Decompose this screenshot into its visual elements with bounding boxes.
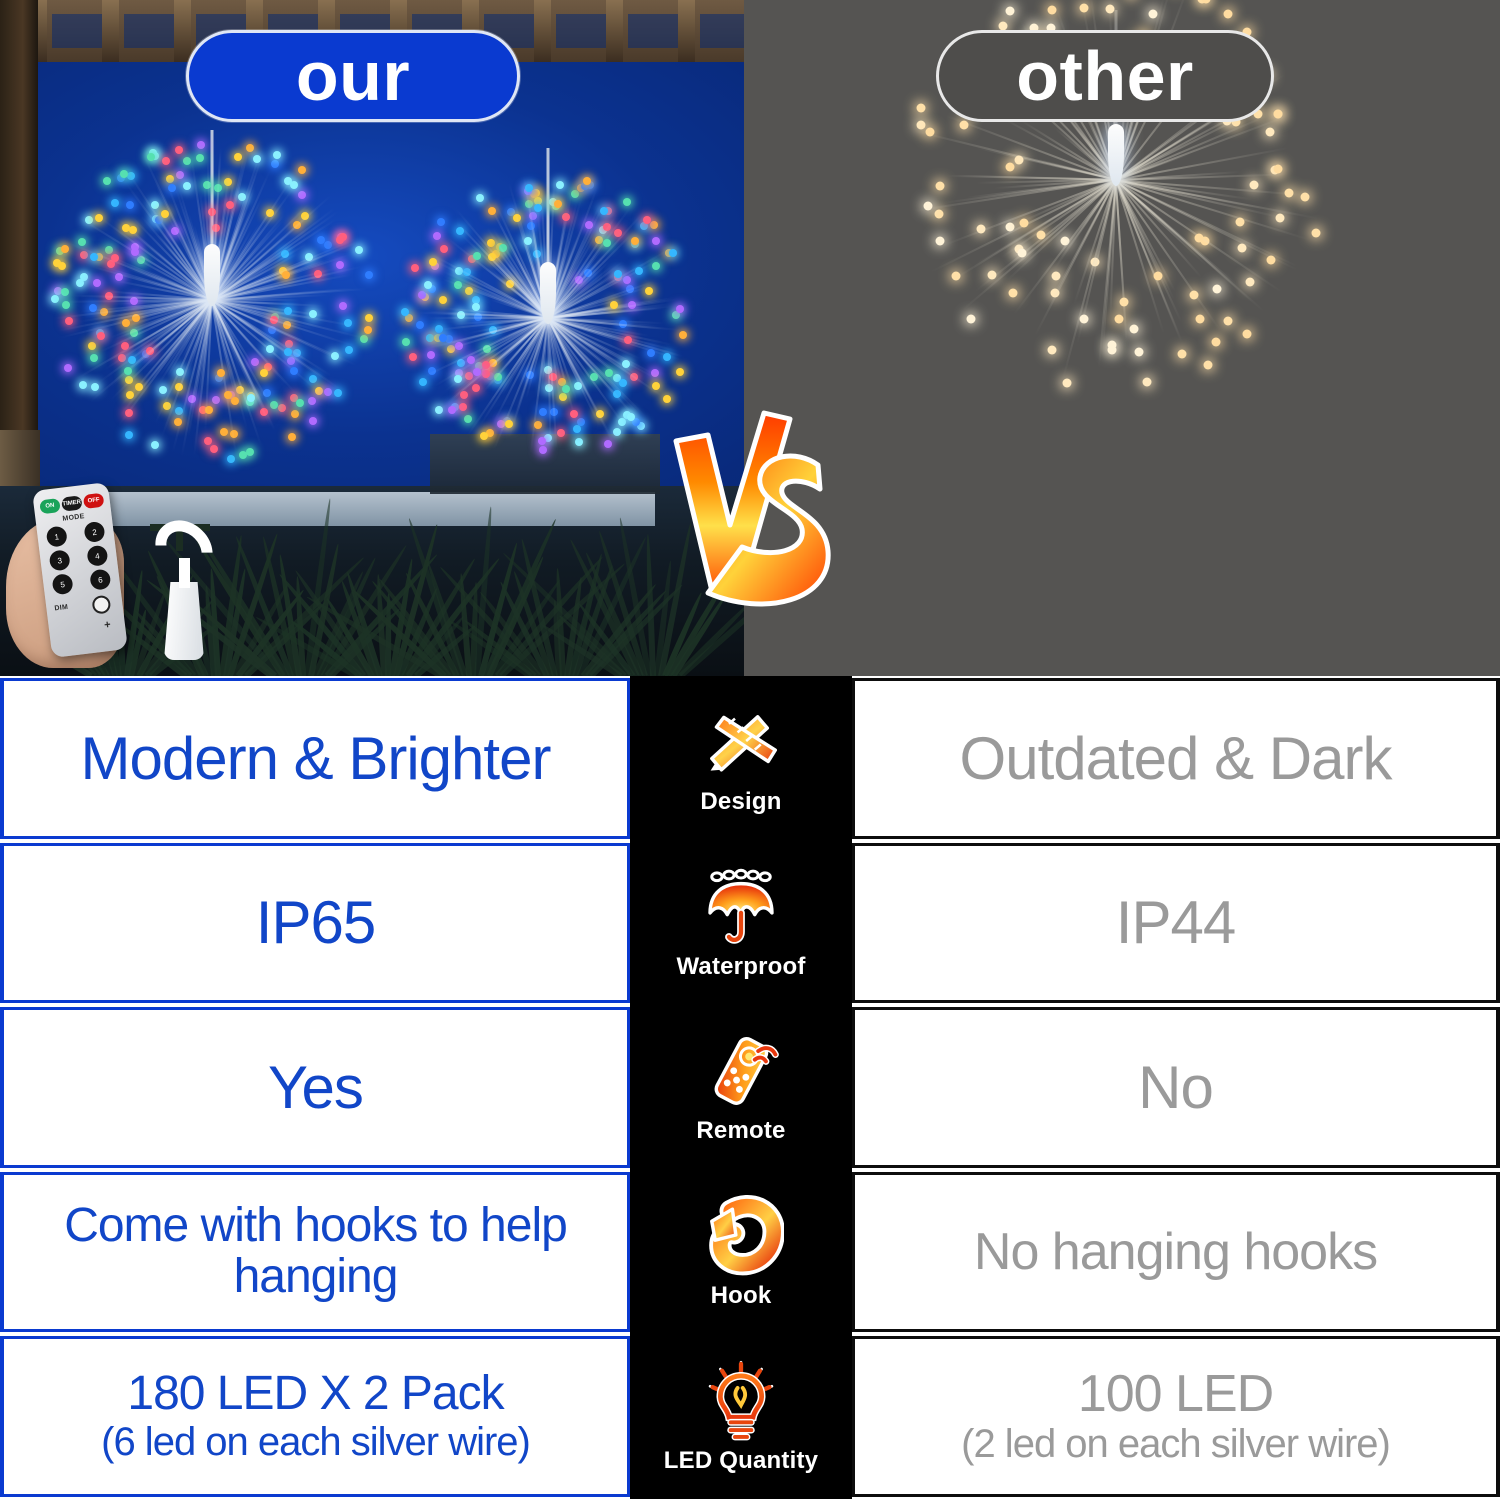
led-dot [650, 221, 658, 229]
table-row: Yes [0, 1005, 1500, 1170]
feature-icon-hook: Hook [630, 1170, 852, 1335]
led-dot [260, 369, 268, 377]
other-value: No [1138, 1057, 1213, 1118]
led-dot [1246, 277, 1255, 286]
feature-icon-design: Design [630, 676, 852, 841]
vs-graphic [668, 405, 836, 645]
led-dot [1236, 217, 1245, 226]
light-bulb-icon [698, 1357, 784, 1443]
led-dot [324, 388, 332, 396]
led-dot [61, 245, 69, 253]
led-dot [424, 281, 432, 289]
led-dot [90, 354, 98, 362]
led-dot [234, 153, 242, 161]
feature-label: Waterproof [676, 953, 805, 981]
remote-number-button: 5 [51, 573, 73, 595]
feature-icon-led-quantity: LED Quantity [630, 1334, 852, 1499]
table-row: Modern & Brighter [0, 676, 1500, 841]
led-dot [1036, 230, 1045, 239]
our-cell-remote: Yes [0, 1007, 630, 1168]
led-dot [1134, 348, 1143, 357]
led-dot [224, 391, 232, 399]
led-dot [998, 21, 1007, 30]
our-value: Yes [268, 1057, 363, 1118]
led-dot [1005, 162, 1014, 171]
led-dot [1014, 156, 1023, 165]
feature-label: Design [700, 788, 781, 816]
led-dot [85, 216, 93, 224]
led-dot [570, 410, 578, 418]
led-dot [1106, 5, 1115, 14]
led-dot [1285, 189, 1294, 198]
remote-number-button: 1 [46, 525, 68, 547]
led-dot [90, 253, 98, 261]
led-dot [111, 254, 119, 262]
led-dot [473, 252, 481, 260]
led-dot [418, 291, 426, 299]
table-row: Come with hooks to help hanging Hook No … [0, 1170, 1500, 1335]
led-dot [538, 437, 546, 445]
led-dot [426, 334, 434, 342]
led-dot [916, 120, 925, 129]
led-dot [1079, 4, 1088, 13]
led-dot [575, 438, 583, 446]
led-dot [1212, 285, 1221, 294]
led-dot [282, 271, 290, 279]
led-dot [298, 191, 306, 199]
led-dot [175, 407, 183, 415]
led-dot [174, 418, 182, 426]
feature-icon-remote: Remote [630, 1005, 852, 1170]
led-dot [1178, 350, 1187, 359]
led-dot [80, 251, 88, 259]
led-dot [437, 218, 445, 226]
pergola-gap [700, 14, 744, 48]
our-value: Come with hooks to help hanging [4, 1201, 627, 1303]
badge-other: other [936, 30, 1274, 122]
badge-other-label: other [1016, 36, 1194, 116]
led-dot [631, 237, 639, 245]
led-dot [1238, 243, 1247, 252]
led-dot [1274, 110, 1283, 119]
led-dot [105, 246, 113, 254]
led-dot [435, 406, 443, 414]
led-dot [217, 369, 225, 377]
led-dot [204, 437, 212, 445]
remote-number-button: 6 [89, 568, 111, 590]
led-dot [427, 351, 435, 359]
led-dot [1223, 10, 1232, 19]
led-dot [196, 154, 204, 162]
led-dot [365, 314, 373, 322]
led-dot [1250, 181, 1259, 190]
led-dot [676, 305, 684, 313]
led-dot [652, 262, 660, 270]
hook-stem [179, 558, 190, 588]
feature-icon-waterproof: Waterproof [630, 841, 852, 1006]
led-dot [238, 193, 246, 201]
led-dot [161, 210, 169, 218]
led-dot [1211, 338, 1220, 347]
feature-label: LED Quantity [664, 1447, 818, 1475]
comparison-table: Modern & Brighter [0, 676, 1500, 1499]
led-dot [296, 399, 304, 407]
led-dot [1189, 290, 1198, 299]
led-dot [439, 296, 447, 304]
other-cell-remote: No [852, 1007, 1500, 1168]
feature-label: Hook [711, 1282, 772, 1310]
led-dot [416, 321, 424, 329]
led-dot [679, 331, 687, 339]
led-dot [290, 367, 298, 375]
led-dot [539, 408, 547, 416]
led-dot [93, 279, 101, 287]
led-dot [966, 315, 975, 324]
other-value-sub: (2 led on each silver wire) [961, 1422, 1390, 1467]
led-dot [652, 237, 660, 245]
pergola-beam [174, 0, 191, 62]
led-dot [284, 307, 292, 315]
led-dot [440, 245, 448, 253]
remote-button: ON [39, 498, 61, 514]
other-cell-waterproof: IP44 [852, 843, 1500, 1004]
led-dot [433, 232, 441, 240]
led-dot [401, 308, 409, 316]
hanging-hook-photo [152, 510, 214, 660]
led-dot [614, 229, 622, 237]
our-cell-led-quantity: 180 LED X 2 Pack (6 led on each silver w… [0, 1336, 630, 1497]
our-value: 180 LED X 2 Pack [101, 1369, 530, 1420]
led-dot [482, 361, 490, 369]
our-cell-waterproof: IP65 [0, 843, 630, 1004]
led-dot [459, 403, 467, 411]
led-dot [669, 249, 677, 257]
led-dot [556, 181, 564, 189]
led-dot [614, 270, 622, 278]
led-dot [176, 171, 184, 179]
remote-control-photo: ONTIMEROFFMODE123456DIM+ [6, 478, 146, 668]
remote-button: OFF [83, 493, 105, 509]
led-dot [239, 451, 247, 459]
led-dot [480, 432, 488, 440]
other-cell-design: Outdated & Dark [852, 678, 1500, 839]
remote-number-button: 2 [83, 521, 105, 543]
other-value: 100 LED [961, 1367, 1390, 1422]
pergola-gap [52, 14, 102, 48]
led-dot [163, 402, 171, 410]
led-dot [1265, 128, 1274, 137]
table-row: IP65 Waterproof [0, 841, 1500, 1006]
led-dot [64, 364, 72, 372]
led-dot [562, 213, 570, 221]
other-value: No hanging hooks [974, 1225, 1377, 1280]
led-dot [270, 401, 278, 409]
led-dot [1062, 378, 1071, 387]
led-dot [539, 446, 547, 454]
led-dot [103, 177, 111, 185]
led-dot [554, 200, 562, 208]
led-dot [1120, 297, 1129, 306]
led-dot [960, 121, 969, 130]
led-dot [266, 345, 274, 353]
remote-number-button: 3 [49, 549, 71, 571]
led-dot [439, 334, 447, 342]
led-dot [288, 433, 296, 441]
badge-our-label: our [296, 36, 410, 116]
led-dot [121, 342, 129, 350]
led-dot [97, 332, 105, 340]
led-dot [402, 338, 410, 346]
led-dot [364, 326, 372, 334]
led-dot [643, 216, 651, 224]
led-dot [1052, 271, 1061, 280]
pergola-gap [124, 14, 174, 48]
remote-button: TIMER [61, 495, 83, 511]
led-dot [51, 295, 59, 303]
pergola-beam [534, 0, 551, 62]
led-dot [1242, 329, 1251, 338]
led-dot [345, 346, 353, 354]
led-dot [309, 310, 317, 318]
our-value: IP65 [256, 892, 375, 953]
remote-plus-label: + [49, 617, 126, 638]
led-dot [166, 175, 174, 183]
led-dot [53, 259, 61, 267]
our-value: Modern & Brighter [81, 728, 551, 789]
led-dot [315, 387, 323, 395]
led-dot [524, 237, 532, 245]
led-dot [212, 396, 220, 404]
our-product-photo: ONTIMEROFFMODE123456DIM+ our [0, 0, 744, 676]
led-dot [1018, 249, 1027, 258]
led-dot [183, 182, 191, 190]
led-dot [298, 166, 306, 174]
led-dot [467, 356, 475, 364]
led-dot [220, 428, 228, 436]
led-dot [309, 375, 317, 383]
led-dot [409, 353, 417, 361]
led-dot [147, 153, 155, 161]
led-dot [278, 404, 286, 412]
led-dot [151, 441, 159, 449]
led-dot [251, 358, 259, 366]
led-dot [534, 204, 542, 212]
led-dot [663, 353, 671, 361]
led-dot [151, 201, 159, 209]
led-dot [1008, 288, 1017, 297]
led-dot [61, 288, 69, 296]
pergola-beam [102, 0, 119, 62]
led-dot [926, 127, 935, 136]
led-dot [464, 415, 472, 423]
pergola-gap [628, 14, 678, 48]
led-dot [183, 157, 191, 165]
led-dot [271, 160, 279, 168]
led-dot [308, 397, 316, 405]
led-dot [623, 276, 631, 284]
center-bulb [1108, 124, 1124, 186]
led-dot [936, 182, 945, 191]
led-dot [573, 425, 581, 433]
center-bulb [540, 262, 556, 324]
led-dot [1300, 192, 1309, 201]
remote-dim-label: DIM [46, 597, 122, 613]
led-dot [226, 201, 234, 209]
led-dot [210, 445, 218, 453]
other-value-group: 100 LED (2 led on each silver wire) [961, 1367, 1390, 1467]
led-dot [111, 199, 119, 207]
led-dot [613, 428, 621, 436]
led-dot [627, 413, 635, 421]
led-dot [505, 420, 513, 428]
led-dot [336, 261, 344, 269]
other-product-photo: other [744, 0, 1500, 676]
other-value: Outdated & Dark [960, 728, 1392, 789]
led-dot [129, 226, 137, 234]
led-dot [339, 302, 347, 310]
led-dot [1143, 378, 1152, 387]
led-dot [284, 348, 292, 356]
led-dot [472, 303, 480, 311]
led-dot [476, 194, 484, 202]
led-dot [1274, 165, 1283, 174]
pergola-beam [606, 0, 623, 62]
led-dot [365, 271, 373, 279]
hero-comparison-images: ONTIMEROFFMODE123456DIM+ our other [0, 0, 1500, 676]
pergola-gap [556, 14, 606, 48]
led-dot [635, 267, 643, 275]
led-dot [936, 236, 945, 245]
remote-control-icon [698, 1027, 784, 1113]
led-dot [623, 198, 631, 206]
led-dot [1115, 315, 1124, 324]
led-dot [562, 385, 570, 393]
remote-number-button: 4 [86, 545, 108, 567]
led-dot [247, 394, 255, 402]
led-dot [448, 406, 456, 414]
led-dot [159, 386, 167, 394]
led-dot [253, 155, 261, 163]
badge-our: our [186, 30, 520, 122]
led-dot [231, 397, 239, 405]
led-dot [1154, 271, 1163, 280]
led-dot [175, 146, 183, 154]
led-dot [80, 273, 88, 281]
led-dot [78, 238, 86, 246]
hook-body [164, 582, 204, 660]
led-dot [128, 356, 136, 364]
led-dot [79, 381, 87, 389]
hook-icon [698, 1192, 784, 1278]
led-dot [1047, 346, 1056, 355]
design-pencil-ruler-icon [698, 698, 784, 784]
table-row: 180 LED X 2 Pack (6 led on each silver w… [0, 1334, 1500, 1499]
led-dot [118, 354, 126, 362]
our-value-group: 180 LED X 2 Pack (6 led on each silver w… [101, 1369, 530, 1465]
led-dot [1223, 316, 1232, 325]
led-dot [619, 379, 627, 387]
led-dot [419, 378, 427, 386]
led-dot [624, 336, 632, 344]
led-dot [454, 375, 462, 383]
led-dot [435, 325, 443, 333]
led-dot [334, 389, 342, 397]
led-dot [273, 151, 281, 159]
our-cell-hook: Come with hooks to help hanging [0, 1172, 630, 1333]
led-dot [62, 301, 70, 309]
other-value: IP44 [1116, 892, 1235, 953]
our-value-sub: (6 led on each silver wire) [101, 1420, 530, 1465]
led-dot [324, 241, 332, 249]
led-dot [291, 410, 299, 418]
led-dot [676, 368, 684, 376]
led-dot [473, 368, 481, 376]
led-dot [603, 239, 611, 247]
product-comparison-infographic: ONTIMEROFFMODE123456DIM+ our other [0, 0, 1500, 1499]
led-dot [935, 209, 944, 218]
led-dot [583, 177, 591, 185]
led-dot [162, 157, 170, 165]
led-dot [125, 431, 133, 439]
led-dot [647, 349, 655, 357]
led-dot [1195, 314, 1204, 323]
led-dot [309, 417, 317, 425]
led-dot [355, 246, 363, 254]
led-dot [126, 201, 134, 209]
led-dot [1194, 234, 1203, 243]
center-bulb [204, 244, 220, 306]
led-dot [227, 455, 235, 463]
led-dot [917, 103, 926, 112]
led-dot [988, 270, 997, 279]
feature-label: Remote [696, 1117, 785, 1145]
led-dot [1108, 346, 1117, 355]
pergola-beam [678, 0, 695, 62]
led-dot [1204, 361, 1213, 370]
led-dot [91, 383, 99, 391]
other-cell-led-quantity: 100 LED (2 led on each silver wire) [852, 1336, 1500, 1497]
led-dot [429, 258, 437, 266]
led-dot [411, 264, 419, 272]
other-cell-hook: No hanging hooks [852, 1172, 1500, 1333]
led-dot [1311, 228, 1320, 237]
led-dot [488, 207, 496, 215]
led-dot [557, 429, 565, 437]
remote-brightness-button [91, 595, 111, 615]
led-dot [1006, 6, 1015, 15]
led-dot [197, 141, 205, 149]
umbrella-waterproof-icon [698, 863, 784, 949]
led-dot [124, 367, 132, 375]
our-cell-design: Modern & Brighter [0, 678, 630, 839]
led-dot [1129, 325, 1138, 334]
led-dot [482, 370, 490, 378]
led-dot [88, 342, 96, 350]
led-dot [336, 236, 344, 244]
